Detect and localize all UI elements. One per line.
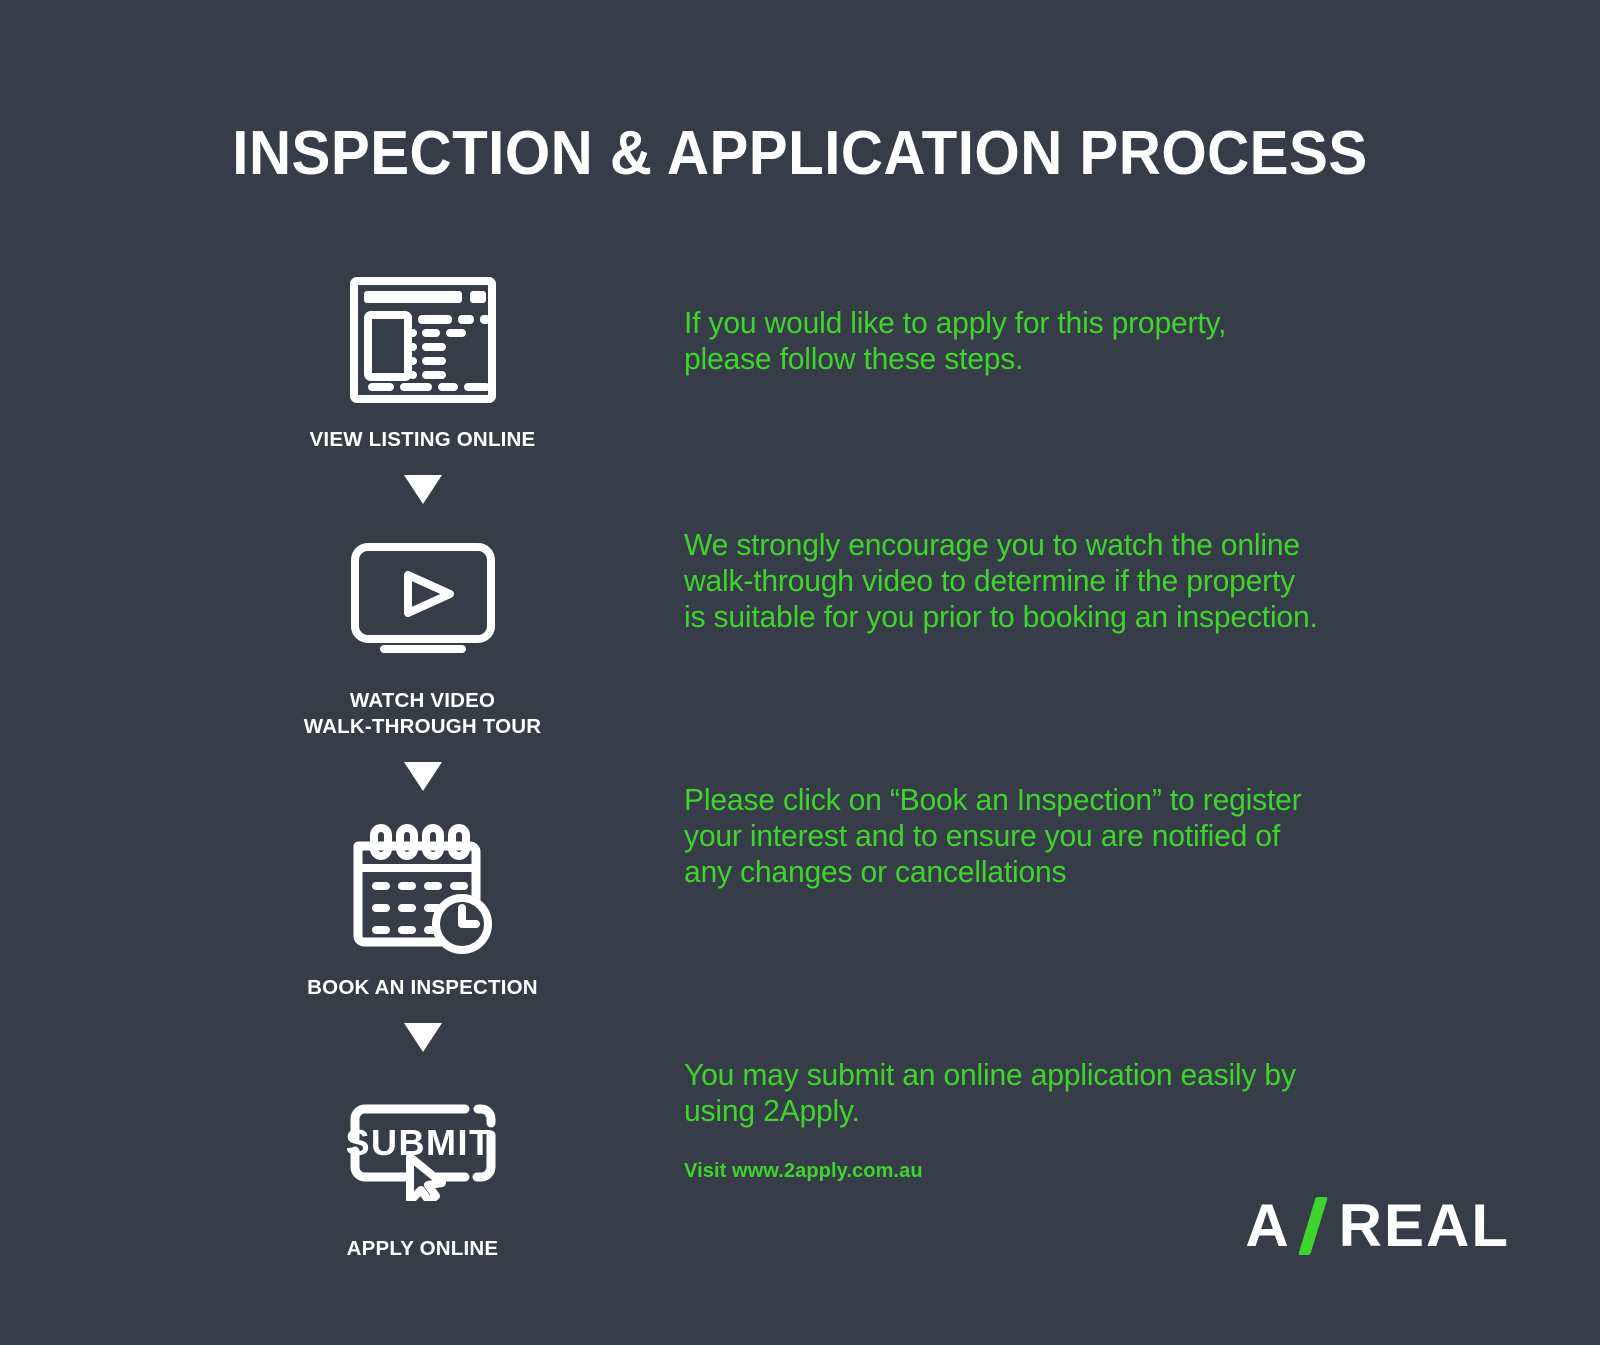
copy-watch-video: We strongly encourage you to watch the o…	[684, 527, 1318, 635]
copy-book-inspection: Please click on “Book an Inspection” to …	[684, 782, 1301, 890]
copy-view-listing-online: If you would like to apply for this prop…	[684, 305, 1226, 377]
visit-url-text[interactable]: Visit www.2apply.com.au	[684, 1160, 923, 1183]
flow-arrow-2	[285, 762, 560, 791]
step-watch-video: WATCH VIDEO WALK-THROUGH TOUR	[285, 526, 560, 740]
copy-apply-online: You may submit an online application eas…	[684, 1057, 1296, 1129]
areal-logo: A REAL	[1245, 1195, 1510, 1257]
submit-button-cursor-icon: SUBMIT	[285, 1074, 560, 1224]
page-title: INSPECTION & APPLICATION PROCESS	[48, 118, 1552, 189]
step-label-apply-online: APPLY ONLINE	[285, 1236, 560, 1262]
logo-slash-icon	[1295, 1197, 1335, 1255]
step-apply-online: SUBMIT APPLY ONLINE	[285, 1074, 560, 1262]
step-label-watch-video: WATCH VIDEO WALK-THROUGH TOUR	[285, 688, 560, 740]
logo-letter-a: A	[1245, 1196, 1290, 1256]
step-label-view-listing-online: VIEW LISTING ONLINE	[285, 427, 560, 453]
video-play-monitor-icon	[285, 526, 560, 676]
step-view-listing-online: VIEW LISTING ONLINE	[285, 265, 560, 453]
step-book-inspection: BOOK AN INSPECTION	[285, 813, 560, 1001]
flow-arrow-3	[285, 1023, 560, 1052]
step-label-book-inspection: BOOK AN INSPECTION	[285, 975, 560, 1001]
calendar-clock-icon	[285, 813, 560, 963]
flow-arrow-1	[285, 475, 560, 504]
process-flow-column: VIEW LISTING ONLINE WATCH VIDEO WALK-THR…	[285, 265, 560, 1262]
infographic-page: INSPECTION & APPLICATION PROCESS	[0, 0, 1600, 1345]
submit-icon-text: SUBMIT	[347, 1122, 493, 1163]
listing-window-icon	[285, 265, 560, 415]
logo-word-real: REAL	[1339, 1196, 1510, 1256]
